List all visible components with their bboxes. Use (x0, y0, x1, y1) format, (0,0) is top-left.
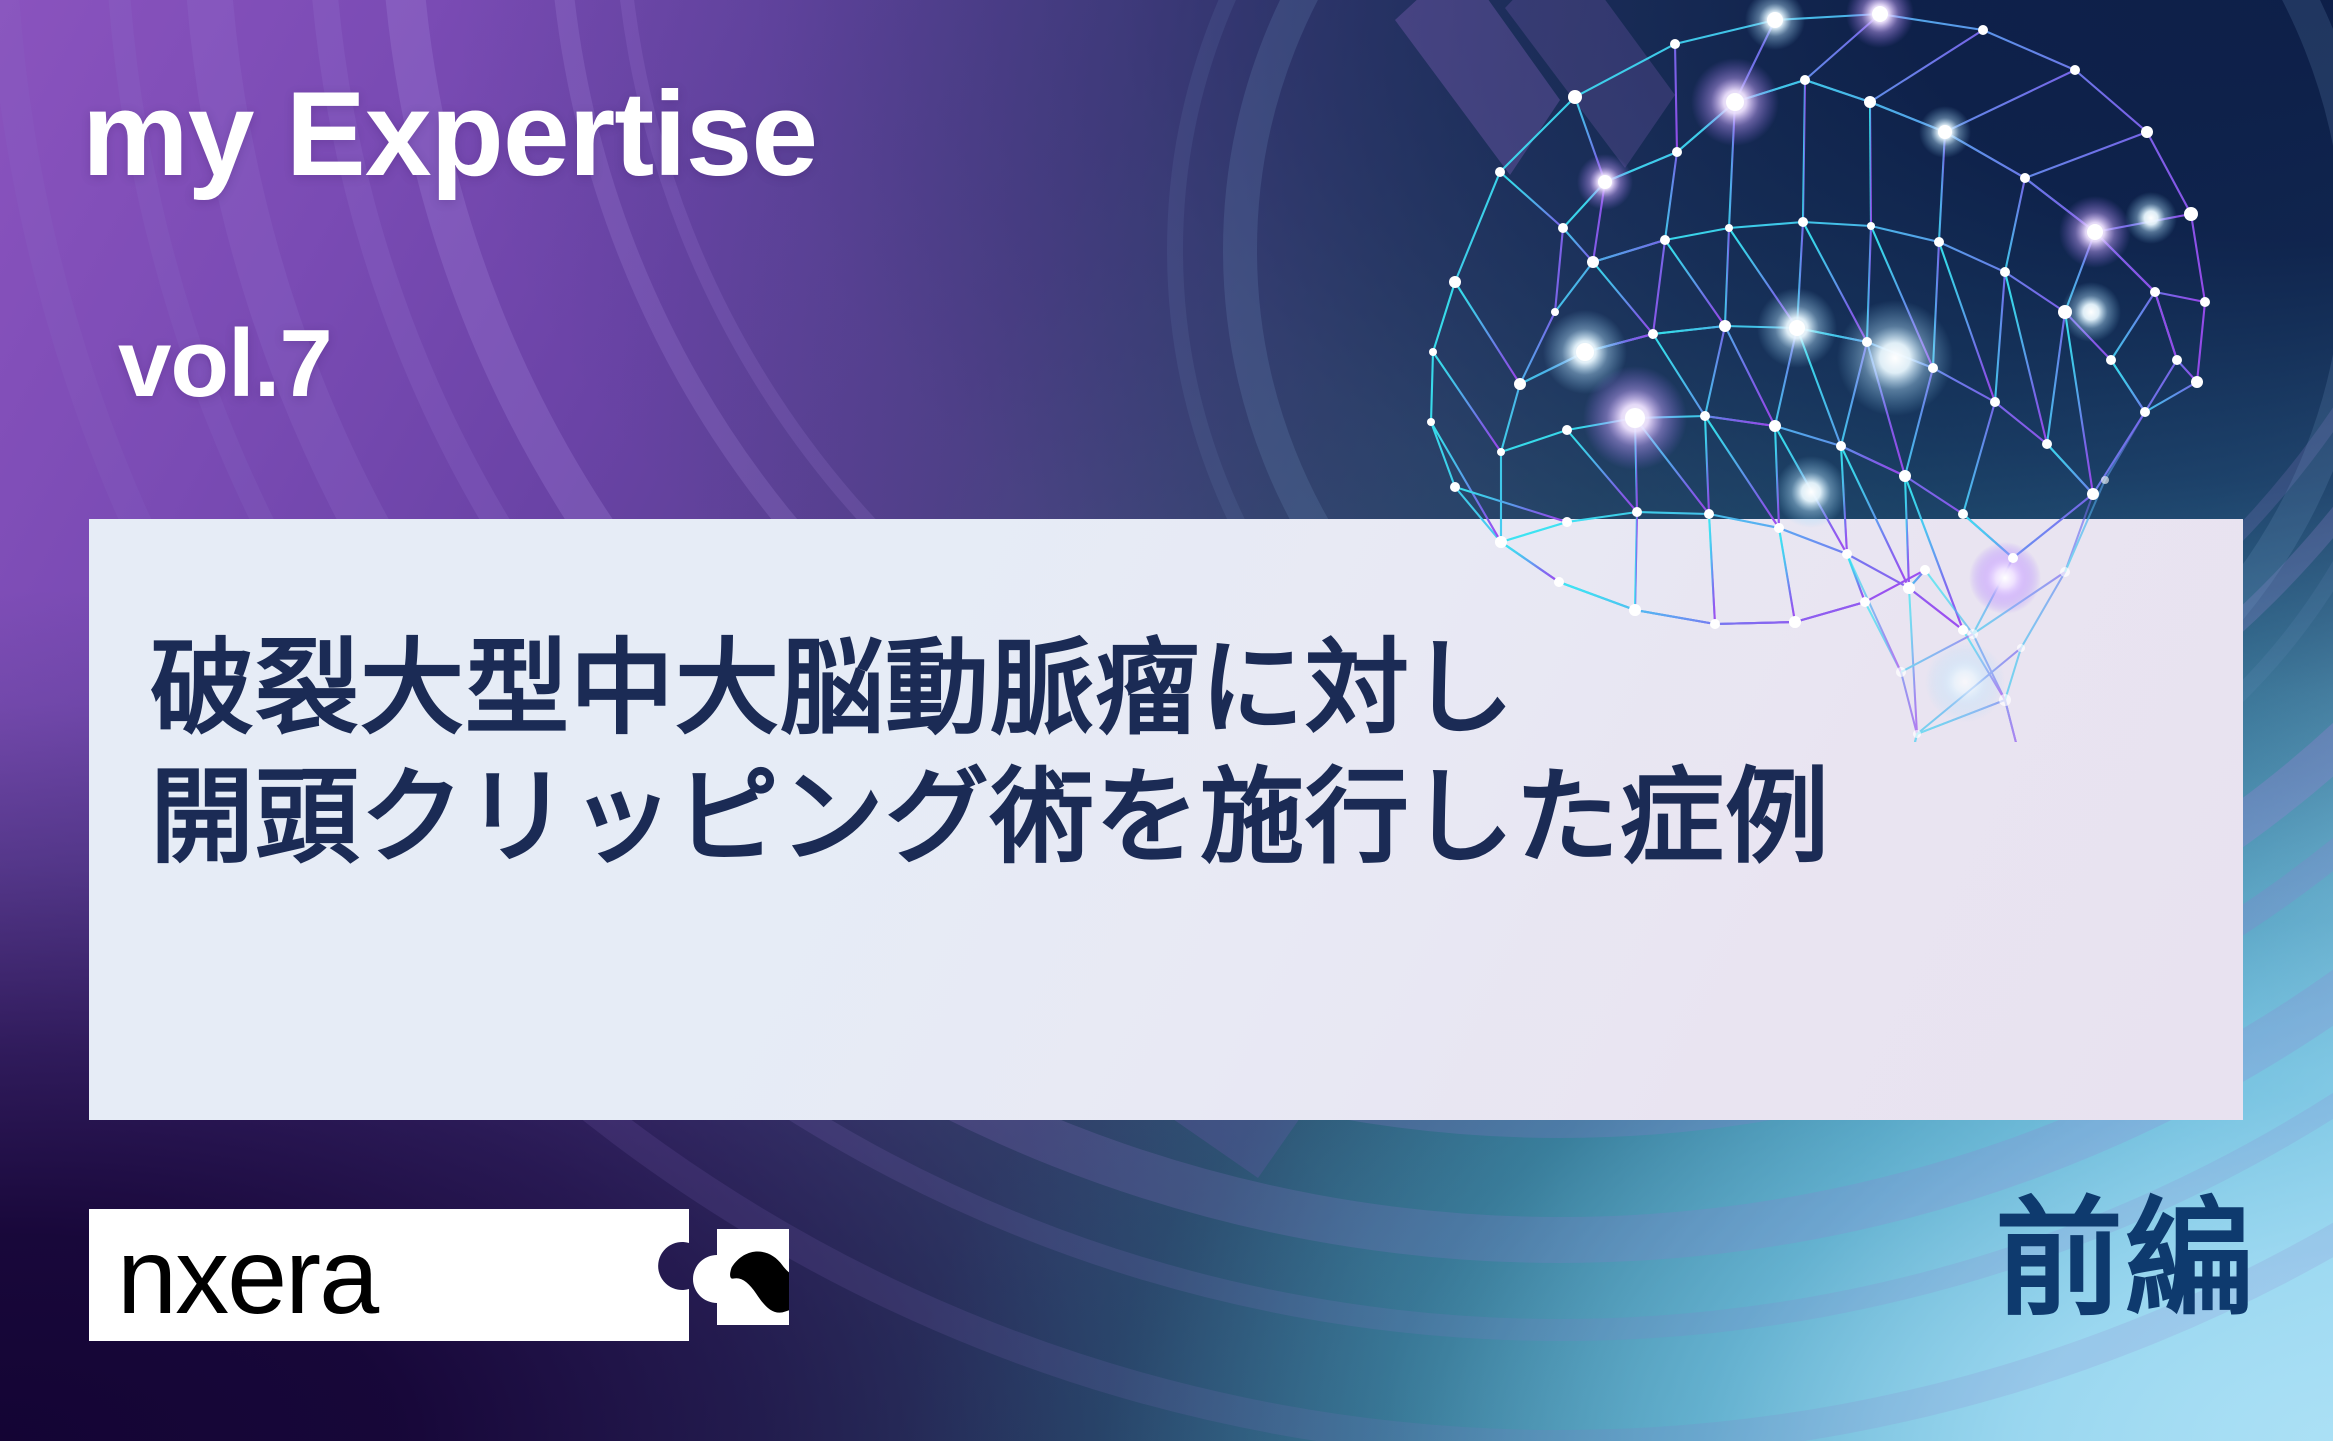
nxera-logo[interactable]: nxera (89, 1209, 789, 1341)
case-title: 破裂大型中大脳動脈瘤に対し 開頭クリッピング術を施行した症例 (150, 625, 1830, 883)
page-title: my Expertise (82, 74, 817, 194)
title-panel: 破裂大型中大脳動脈瘤に対し 開頭クリッピング術を施行した症例 (89, 519, 2243, 1120)
logo-wordmark-text: nxera (117, 1215, 380, 1336)
poster-canvas: my Expertise vol.7 破裂大型中大脳動脈瘤に対し 開頭クリッピン… (0, 0, 2333, 1441)
volume-label: vol.7 (118, 316, 332, 412)
part-label: 前編 (1995, 1196, 2255, 1324)
